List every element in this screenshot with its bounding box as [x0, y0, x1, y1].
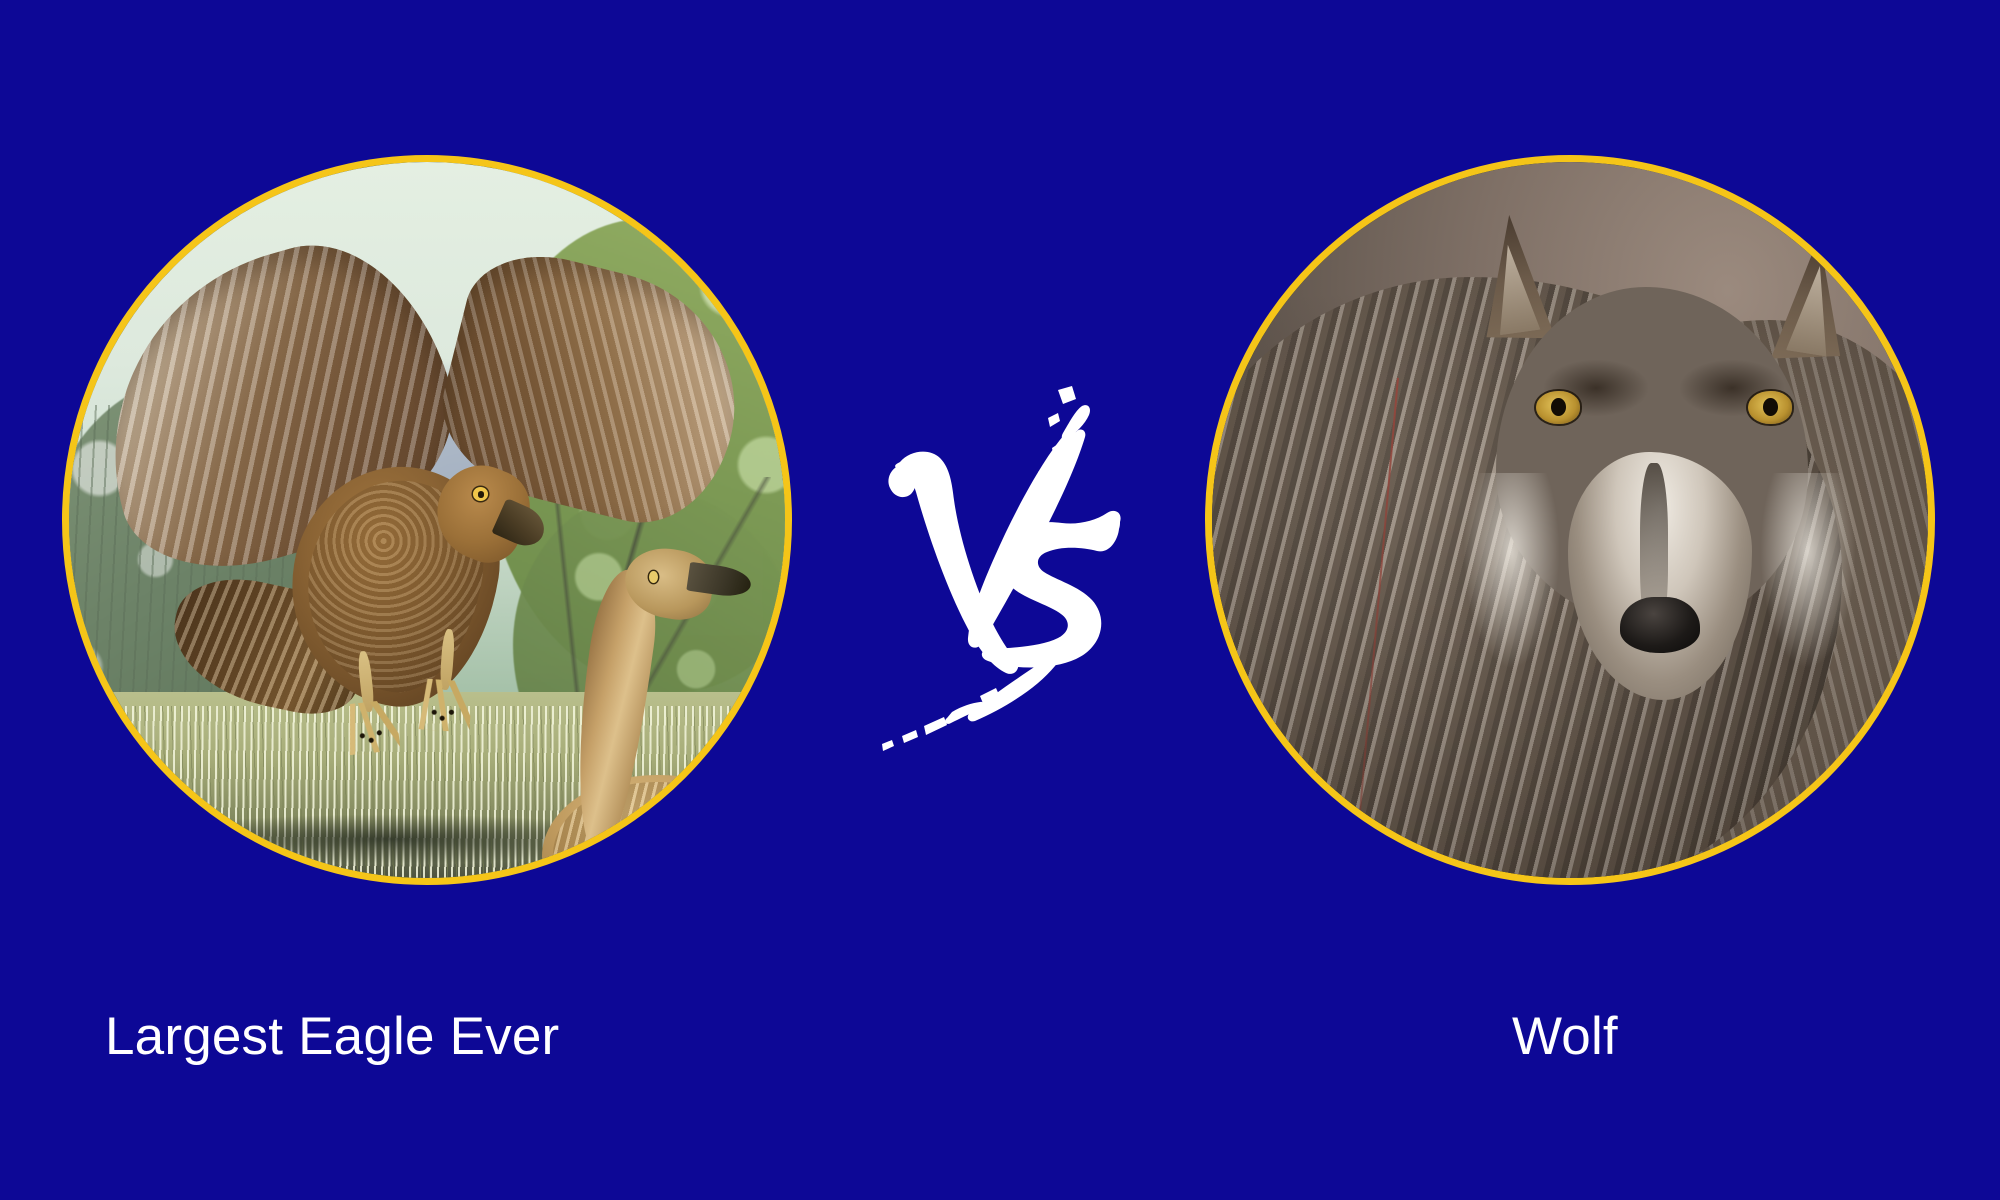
wolf-cheek-left: [1463, 473, 1559, 669]
versus-icon: [862, 352, 1142, 752]
wolf-head: [1455, 205, 1856, 721]
eagle-leg-right: [427, 628, 464, 728]
wolf-ear-right: [1770, 231, 1858, 374]
eagle-illustration: [69, 162, 785, 878]
eagle-claw: [357, 727, 386, 759]
competitor-label-left: Largest Eagle Ever: [105, 1010, 559, 1063]
wolf-eye-right: [1748, 391, 1792, 424]
moa-eye: [649, 571, 658, 583]
wolf-eye-left: [1536, 391, 1580, 424]
wolf-figure: [1212, 162, 1928, 878]
wolf-nose: [1620, 597, 1700, 654]
competitor-image-right[interactable]: [1205, 155, 1935, 885]
wolf-cheek-right: [1760, 473, 1856, 669]
wolf-photograph: [1212, 162, 1928, 878]
moa-body: [542, 775, 766, 878]
competitor-image-left[interactable]: [62, 155, 792, 885]
wolf-ear-inner: [1488, 242, 1541, 335]
wolf-ear-left: [1470, 211, 1556, 353]
wolf-ear-inner: [1786, 263, 1840, 357]
competitor-label-right: Wolf: [1512, 1010, 1618, 1063]
moa-prey-figure: [527, 549, 770, 878]
versus-card: Largest Eagle Ever Wolf: [0, 0, 2000, 1200]
eagle-claw: [428, 706, 456, 737]
